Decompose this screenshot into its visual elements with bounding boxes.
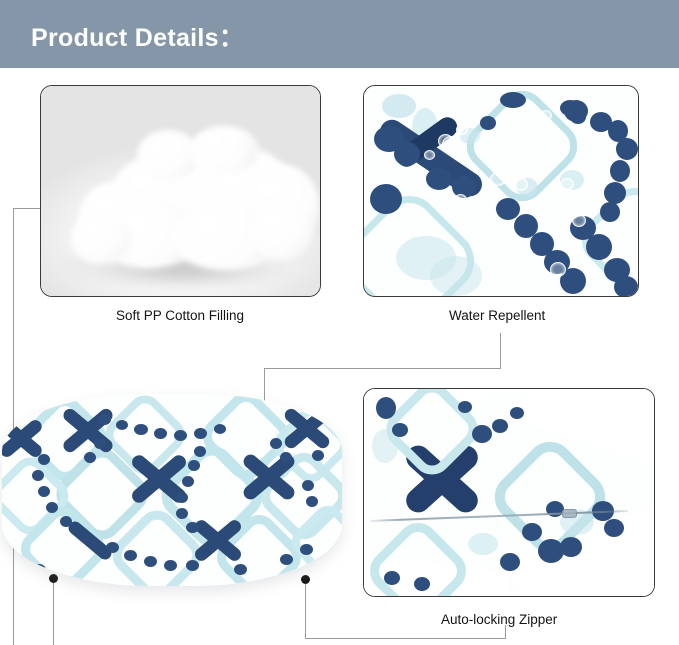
pillow-dot-20: [60, 516, 72, 527]
water-droplet-6: [514, 178, 528, 191]
pillow-dot-27: [280, 452, 292, 463]
pp-cotton-image: [41, 86, 320, 296]
cotton-blob-8: [71, 212, 131, 264]
teal-soft-7: [430, 256, 482, 296]
connector-water-vertical: [500, 333, 501, 369]
navy-bead-3: [500, 92, 526, 108]
water-droplet-8: [454, 194, 467, 206]
navy-bead-5: [564, 100, 588, 122]
zipper-dot-14: [414, 577, 430, 591]
navy-bead-4: [480, 116, 496, 130]
navy-bead-18: [586, 234, 612, 260]
page-title: Product Details：: [31, 18, 244, 54]
zipper-dot-1: [376, 397, 396, 419]
navy-bead-8: [616, 138, 638, 160]
zipper-teal-soft-1: [468, 533, 498, 555]
zipper-dot-15: [458, 401, 472, 413]
connector-zipper-vertical: [305, 584, 306, 638]
pillow-dot-12: [176, 508, 188, 519]
navy-dot-2: [394, 142, 420, 166]
pillow-dot-14: [94, 438, 106, 449]
connector-cotton-dot-riser: [53, 583, 54, 645]
navy-bead-20: [614, 276, 638, 296]
panel-main-pillow[interactable]: [2, 394, 342, 586]
zipper-dot-3: [472, 425, 492, 443]
navy-bead-11: [600, 202, 620, 222]
pillow-dot-6: [194, 428, 207, 439]
pillow-dot-13: [186, 522, 199, 533]
panel-water-repellent[interactable]: [363, 85, 639, 297]
zipper-dot-7: [522, 523, 542, 541]
navy-dot-3: [370, 184, 402, 214]
navy-bead-10: [604, 182, 626, 204]
pillow-dot-5: [174, 430, 187, 441]
water-droplet-4: [540, 110, 552, 121]
teal-soft-1: [382, 94, 416, 118]
main-pillow-image: [2, 394, 342, 586]
pillow-corner-shape: [364, 389, 654, 596]
water-droplet-14: [424, 150, 435, 160]
zipper-dot-4: [492, 419, 508, 433]
pillow-dot-24: [164, 560, 177, 571]
pillow-dot-23: [144, 556, 157, 567]
pillow-dot-15: [84, 452, 96, 463]
caption-water-repellent: Water Repellent: [449, 308, 545, 323]
pillow-dot-16: [38, 454, 50, 465]
pillow-dot-30: [300, 544, 313, 555]
pillow-dot-29: [306, 496, 318, 507]
pillow-dot-3: [134, 424, 148, 435]
water-repellent-image: [364, 86, 638, 296]
water-droplet-2: [456, 124, 468, 135]
zipper-dot-12: [604, 519, 624, 537]
panel-pp-cotton-filling[interactable]: [40, 85, 321, 297]
pillow-dot-18: [38, 486, 50, 497]
navy-dot-4: [426, 168, 452, 190]
pillow-dot-31: [280, 554, 293, 565]
zipper-dot-10: [500, 553, 520, 571]
connector-zipper-riser: [505, 625, 506, 639]
zipper-dot-5: [510, 407, 524, 419]
pillow-dot-8: [194, 446, 206, 457]
water-droplet-3: [442, 136, 460, 152]
zipper-dot-13: [384, 571, 400, 585]
pillow-dot-11: [176, 492, 188, 503]
connector-zipper-horizontal: [305, 638, 506, 639]
pillow-dot-1: [98, 414, 111, 425]
water-droplet-11: [550, 262, 566, 277]
pillow-dot-26: [270, 438, 282, 449]
pillow-dot-25: [186, 560, 199, 571]
water-droplet-13: [604, 148, 616, 159]
zipper-dot-9: [560, 537, 582, 557]
product-details-infographic: Product Details： Soft PP Co: [0, 0, 679, 645]
water-droplet-12: [524, 138, 535, 148]
pillow-dot-9: [188, 460, 200, 471]
pillow-dot-28: [302, 480, 314, 491]
panel-auto-locking-zipper[interactable]: [363, 388, 655, 597]
connector-water-horizontal: [264, 368, 501, 369]
pillow-dot-34: [312, 450, 324, 461]
water-droplet-10: [572, 214, 586, 227]
pillow-dot-19: [46, 502, 58, 513]
pillow-dot-2: [116, 420, 128, 430]
pillow-dot-7: [214, 424, 226, 434]
zipper-dot-2: [392, 423, 408, 437]
pillow-dot-17: [32, 470, 44, 481]
water-droplet-9: [482, 202, 494, 214]
caption-pp-cotton-filling: Soft PP Cotton Filling: [116, 308, 244, 323]
pillow-dot-33: [32, 564, 46, 576]
pillow-dot-21: [106, 542, 119, 553]
pillow-dot-22: [124, 550, 137, 561]
water-droplet-5: [490, 172, 506, 186]
zipper-pull-tab: [562, 509, 577, 519]
water-droplet-7: [560, 178, 574, 191]
navy-bead-9: [610, 160, 630, 182]
zipper-image: [364, 389, 654, 596]
pillow-dot-4: [154, 428, 167, 439]
cotton-blob-9: [249, 204, 313, 260]
cotton-blob-11: [189, 126, 259, 174]
caption-auto-locking-zipper: Auto-locking Zipper: [441, 612, 557, 627]
pillow-dot-10: [182, 476, 194, 487]
pillow-dot-32: [234, 564, 247, 575]
